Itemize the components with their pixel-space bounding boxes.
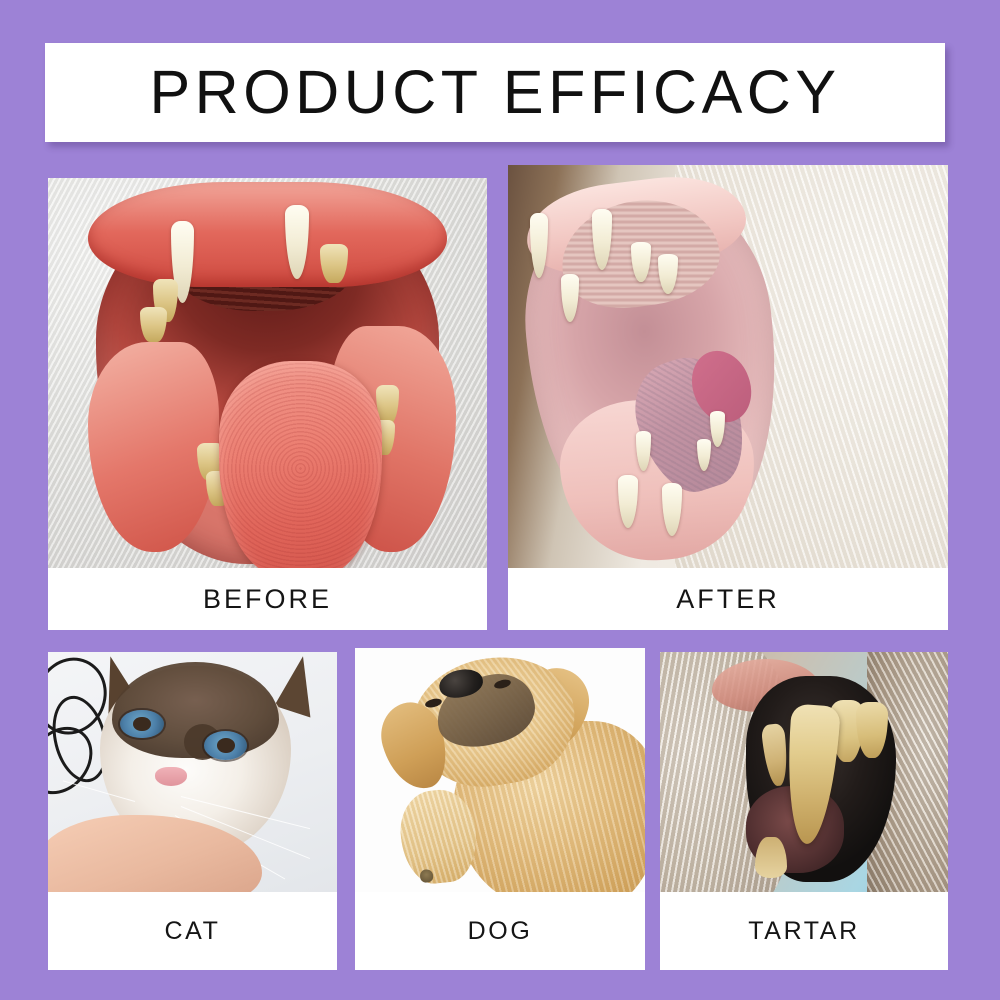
cat-right-pupil bbox=[217, 738, 235, 753]
tartar-label-band: TARTAR bbox=[660, 892, 948, 970]
before-photo bbox=[48, 178, 487, 568]
tongue bbox=[219, 361, 381, 568]
dog-label: DOG bbox=[468, 919, 533, 944]
before-label-band: BEFORE bbox=[48, 568, 487, 630]
cat-left-pupil bbox=[133, 717, 151, 732]
title-banner: PRODUCT EFFICACY bbox=[45, 43, 945, 142]
dog-card[interactable]: DOG bbox=[355, 648, 645, 970]
tartar-label: TARTAR bbox=[748, 919, 859, 944]
cat-right-eye bbox=[204, 731, 247, 760]
cat-left-eye bbox=[120, 710, 163, 739]
cat-label-band: CAT bbox=[48, 892, 337, 970]
cat-card[interactable]: CAT bbox=[48, 652, 337, 970]
dog-label-band: DOG bbox=[355, 892, 645, 970]
dog-tartar-teeth-illustration bbox=[660, 652, 948, 892]
after-photo bbox=[508, 165, 948, 568]
cat-portrait-illustration bbox=[48, 652, 337, 892]
before-card[interactable]: BEFORE bbox=[48, 178, 487, 630]
dog-portrait-illustration bbox=[355, 648, 645, 892]
cat-healthy-mouth-illustration bbox=[508, 165, 948, 568]
after-label: AFTER bbox=[676, 586, 780, 613]
tartar-card[interactable]: TARTAR bbox=[660, 652, 948, 970]
cat-label: CAT bbox=[165, 919, 221, 944]
cat-photo bbox=[48, 652, 337, 892]
dog-photo bbox=[355, 648, 645, 892]
after-card[interactable]: AFTER bbox=[508, 165, 948, 630]
tartar-lower-tooth bbox=[755, 837, 787, 878]
upper-left-molar bbox=[140, 307, 166, 342]
after-label-band: AFTER bbox=[508, 568, 948, 630]
tartar-photo bbox=[660, 652, 948, 892]
before-label: BEFORE bbox=[203, 586, 332, 613]
cat-inflamed-mouth-illustration bbox=[48, 178, 487, 568]
dog-paw-pad bbox=[420, 868, 434, 882]
upper-gum-inflamed bbox=[88, 182, 448, 287]
page-title: PRODUCT EFFICACY bbox=[149, 62, 840, 123]
